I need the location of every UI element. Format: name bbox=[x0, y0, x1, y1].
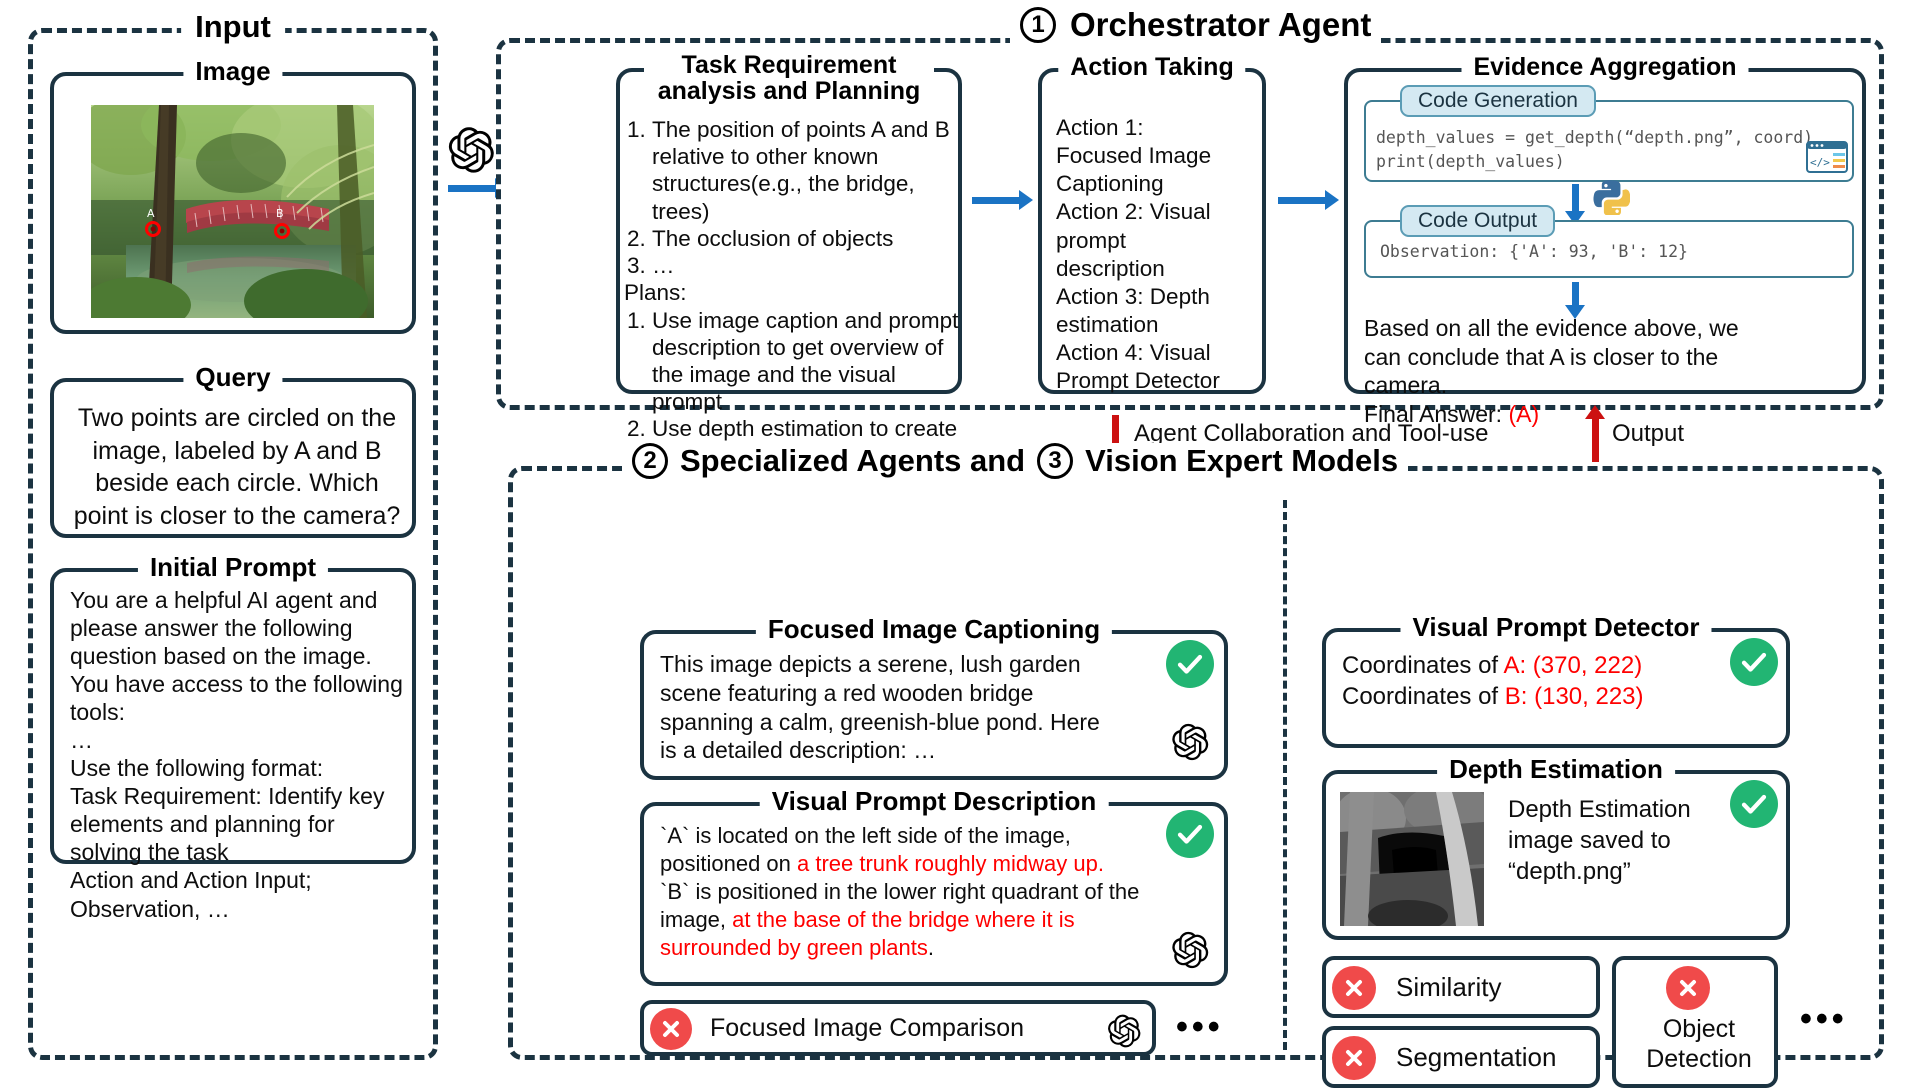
detector-row-prefix: Coordinates of bbox=[1342, 652, 1503, 679]
figure-root: Input Image bbox=[0, 0, 1913, 1090]
detector-row-value: A: (370, 222) bbox=[1503, 652, 1642, 679]
query-panel-title: Query bbox=[183, 364, 282, 391]
conclusion-line: can conclude that A is closer to the bbox=[1364, 343, 1858, 372]
similarity-status-bad-icon bbox=[1332, 966, 1376, 1010]
visual-prompt-detector-title: Visual Prompt Detector bbox=[1400, 614, 1711, 641]
depth-estimation-title: Depth Estimation bbox=[1437, 756, 1675, 783]
code-generation-label: Code Generation bbox=[1400, 85, 1596, 117]
input-photo-svg: A B bbox=[91, 105, 374, 318]
visual-prompt-description-status-ok-icon bbox=[1166, 810, 1214, 858]
query-text: Two points are circled on the image, lab… bbox=[68, 402, 406, 532]
check-icon bbox=[1175, 649, 1205, 679]
depth-line: image saved to bbox=[1508, 825, 1738, 856]
right-more-ellipsis: ••• bbox=[1800, 1000, 1848, 1039]
planning-panel: Task Requirement analysis and Planning T… bbox=[616, 68, 962, 394]
initial-prompt-line: You have access to the following bbox=[70, 670, 416, 698]
cross-icon bbox=[1342, 1046, 1366, 1070]
code-output-text: Observation: {'A': 93, 'B': 12} bbox=[1380, 240, 1688, 264]
object-detection-label: Object Detection bbox=[1616, 1014, 1782, 1074]
planning-requirement-item: … bbox=[652, 252, 962, 279]
action-line: prompt bbox=[1056, 227, 1270, 255]
visual-prompt-description-text: `A` is located on the left side of the i… bbox=[660, 822, 1196, 962]
evidence-panel: Evidence Aggregation Code Generation dep… bbox=[1344, 68, 1866, 394]
openai-icon bbox=[446, 124, 496, 176]
conclusion-line: camera. bbox=[1364, 371, 1858, 400]
focused-image-captioning-text: This image depicts a serene, lush garden… bbox=[660, 650, 1112, 765]
arrow-code-to-output bbox=[1572, 184, 1579, 212]
visual-prompt-description-panel: Visual Prompt Description `A` is located… bbox=[640, 802, 1228, 986]
arrow-action-to-evidence bbox=[1278, 197, 1326, 204]
initial-prompt-line: question based on the image. bbox=[70, 642, 416, 670]
openai-logo-fic bbox=[1170, 721, 1210, 768]
initial-prompt-panel: Initial Prompt You are a helpful AI agen… bbox=[50, 568, 416, 864]
orchestrator-header: 1 Orchestrator Agent bbox=[1010, 6, 1381, 44]
vpd-highlight-text: a tree trunk roughly midway up. bbox=[797, 851, 1104, 876]
initial-prompt-line: please answer the following bbox=[70, 614, 416, 642]
initial-prompt-line: Task Requirement: Identify key bbox=[70, 782, 416, 810]
initial-prompt-line: Use the following format: bbox=[70, 754, 416, 782]
code-generation-text: depth_values = get_depth(“depth.png”, co… bbox=[1376, 126, 1813, 174]
vpd-text-run: `B` is positioned in the lower right qua… bbox=[660, 879, 1139, 904]
depth-estimation-status-ok-icon bbox=[1730, 780, 1778, 828]
action-line: Action 4: Visual bbox=[1056, 339, 1270, 367]
initial-prompt-line: … bbox=[70, 726, 416, 754]
caption-line: scene featuring a red wooden bridge bbox=[660, 679, 1112, 708]
object-detection-label-line2: Detection bbox=[1646, 1045, 1752, 1073]
openai-logo-input bbox=[446, 124, 496, 181]
detector-row-prefix: Coordinates of bbox=[1342, 683, 1505, 710]
arrow-output-to-conclusion bbox=[1572, 282, 1579, 306]
visual-prompt-detector-status-ok-icon bbox=[1730, 638, 1778, 686]
check-icon bbox=[1739, 789, 1769, 819]
planning-plan-item: Use image caption and prompt description… bbox=[652, 307, 962, 416]
initial-prompt-text: You are a helpful AI agent andplease ans… bbox=[70, 586, 416, 923]
svg-text:B: B bbox=[276, 207, 284, 220]
vpd-text-run: image, bbox=[660, 907, 732, 932]
depth-map-svg bbox=[1340, 792, 1484, 926]
bottom-header: 2 Specialized Agents and 3 Vision Expert… bbox=[622, 443, 1408, 479]
planning-requirement-item: The occlusion of objects bbox=[652, 225, 962, 252]
code-output-box: Code Output Observation: {'A': 93, 'B': … bbox=[1364, 220, 1854, 278]
similarity-panel[interactable]: Similarity bbox=[1322, 956, 1600, 1018]
depth-estimation-text: Depth Estimationimage saved to“depth.png… bbox=[1508, 794, 1738, 888]
planning-title-line1: Task Requirement bbox=[682, 51, 897, 79]
code-output-label: Code Output bbox=[1400, 205, 1555, 237]
openai-icon bbox=[1170, 929, 1210, 971]
evidence-conclusion: Based on all the evidence above, wecan c… bbox=[1364, 314, 1858, 428]
depth-line: Depth Estimation bbox=[1508, 794, 1738, 825]
left-more-ellipsis: ••• bbox=[1176, 1008, 1224, 1047]
code-window-icon-svg: </> bbox=[1806, 141, 1848, 173]
focused-image-captioning-title: Focused Image Captioning bbox=[756, 616, 1112, 643]
svg-text:</>: </> bbox=[1810, 156, 1830, 169]
focused-image-comparison-label: Focused Image Comparison bbox=[710, 1014, 1024, 1043]
cross-icon bbox=[1342, 976, 1366, 1000]
segmentation-panel[interactable]: Segmentation bbox=[1322, 1026, 1600, 1088]
python-icon-svg bbox=[1592, 177, 1630, 215]
visual-prompt-detector-rows: Coordinates of A: (370, 222)Coordinates … bbox=[1342, 650, 1732, 712]
similarity-label: Similarity bbox=[1396, 972, 1501, 1003]
arrow-planning-to-action bbox=[972, 197, 1020, 204]
cross-icon bbox=[1676, 976, 1700, 1000]
action-line: description bbox=[1056, 255, 1270, 283]
planning-title-line2: analysis and Planning bbox=[658, 77, 921, 105]
caption-line: is a detailed description: … bbox=[660, 736, 1112, 765]
initial-prompt-line: elements and planning for bbox=[70, 810, 416, 838]
cross-icon bbox=[659, 1017, 683, 1041]
detector-row-value: B: (130, 223) bbox=[1505, 683, 1644, 710]
input-photo: A B bbox=[91, 105, 374, 318]
specialized-title: Specialized Agents and bbox=[680, 443, 1025, 479]
caption-line: spanning a calm, greenish-blue pond. Her… bbox=[660, 708, 1112, 737]
object-detection-label-line1: Object bbox=[1663, 1015, 1735, 1043]
initial-prompt-line: tools: bbox=[70, 698, 416, 726]
conclusion-line: Based on all the evidence above, we bbox=[1364, 314, 1858, 343]
initial-prompt-line: You are a helpful AI agent and bbox=[70, 586, 416, 614]
action-taking-panel-title: Action Taking bbox=[1058, 54, 1245, 80]
openai-logo-fimc bbox=[1106, 1012, 1142, 1055]
query-panel: Query Two points are circled on the imag… bbox=[50, 378, 416, 538]
focused-image-comparison-panel[interactable]: Focused Image Comparison bbox=[640, 1000, 1156, 1056]
openai-icon bbox=[1106, 1012, 1142, 1050]
code-generation-box: Code Generation depth_values = get_depth… bbox=[1364, 100, 1854, 182]
vpd-text-run: . bbox=[928, 935, 934, 960]
planning-requirement-item: The position of points A and B relative … bbox=[652, 116, 962, 225]
final-answer-value: (A) bbox=[1508, 401, 1539, 427]
vision-title: Vision Expert Models bbox=[1085, 443, 1398, 479]
output-label: Output bbox=[1612, 420, 1684, 448]
orchestrator-step-number: 1 bbox=[1020, 7, 1056, 43]
detector-row: Coordinates of B: (130, 223) bbox=[1342, 681, 1732, 712]
orchestrator-title: Orchestrator Agent bbox=[1070, 6, 1371, 44]
action-line: Focused Image bbox=[1056, 142, 1270, 170]
action-taking-content: Action 1:Focused ImageCaptioningAction 2… bbox=[1056, 114, 1270, 395]
action-line: Action 1: bbox=[1056, 114, 1270, 142]
action-line: Prompt Detector bbox=[1056, 367, 1270, 395]
initial-prompt-line: Action and Action Input; bbox=[70, 866, 416, 894]
input-image-panel-title: Image bbox=[183, 58, 282, 85]
initial-prompt-line: solving the task bbox=[70, 838, 416, 866]
planning-panel-title: Task Requirement analysis and Planning bbox=[644, 52, 934, 105]
vpd-highlight-text: surrounded by green plants bbox=[660, 935, 928, 960]
openai-icon bbox=[1170, 721, 1210, 763]
vpd-text-run: `A` is located on the left side of the i… bbox=[660, 823, 1071, 848]
object-detection-status-bad-icon bbox=[1666, 966, 1710, 1010]
initial-prompt-line: Observation, … bbox=[70, 895, 416, 923]
focused-image-captioning-status-ok-icon bbox=[1166, 640, 1214, 688]
vpd-text-run: positioned on bbox=[660, 851, 797, 876]
bottom-divider bbox=[1283, 500, 1287, 1050]
visual-prompt-detector-panel: Visual Prompt Detector Coordinates of A:… bbox=[1322, 628, 1790, 748]
evidence-panel-title: Evidence Aggregation bbox=[1461, 54, 1748, 80]
action-line: Action 2: Visual bbox=[1056, 198, 1270, 226]
planning-content: The position of points A and B relative … bbox=[624, 116, 962, 497]
caption-line: This image depicts a serene, lush garden bbox=[660, 650, 1112, 679]
action-line: estimation bbox=[1056, 311, 1270, 339]
python-icon bbox=[1592, 177, 1630, 220]
planning-requirements-list: The position of points A and B relative … bbox=[624, 116, 962, 279]
segmentation-status-bad-icon bbox=[1332, 1036, 1376, 1080]
segmentation-label: Segmentation bbox=[1396, 1042, 1556, 1073]
check-icon bbox=[1175, 819, 1205, 849]
action-taking-panel: Action Taking Action 1:Focused ImageCapt… bbox=[1038, 68, 1266, 394]
focused-image-captioning-panel: Focused Image Captioning This image depi… bbox=[640, 630, 1228, 780]
svg-text:A: A bbox=[147, 207, 155, 220]
depth-map-thumbnail bbox=[1340, 792, 1484, 926]
openai-logo-vpd bbox=[1170, 929, 1210, 976]
arrow-input-to-orchestrator bbox=[448, 185, 496, 192]
visual-prompt-description-title: Visual Prompt Description bbox=[760, 788, 1109, 815]
focused-image-comparison-status-bad-icon bbox=[650, 1008, 692, 1050]
check-icon bbox=[1739, 647, 1769, 677]
vpd-highlight-text: at the base of the bridge where it is bbox=[732, 907, 1074, 932]
input-section-title: Input bbox=[181, 11, 285, 44]
initial-prompt-panel-title: Initial Prompt bbox=[138, 554, 328, 581]
action-line: Action 3: Depth bbox=[1056, 283, 1270, 311]
specialized-step-number: 2 bbox=[632, 443, 668, 479]
code-window-icon: </> bbox=[1806, 141, 1848, 178]
planning-plans-label: Plans: bbox=[624, 279, 962, 306]
vision-step-number: 3 bbox=[1037, 443, 1073, 479]
depth-line: “depth.png” bbox=[1508, 856, 1738, 887]
depth-estimation-panel: Depth Estimation Depth Estimationimage s… bbox=[1322, 770, 1790, 940]
action-line: Captioning bbox=[1056, 170, 1270, 198]
object-detection-panel[interactable]: Object Detection bbox=[1612, 956, 1778, 1088]
detector-row: Coordinates of A: (370, 222) bbox=[1342, 650, 1732, 681]
arrow-output-up bbox=[1592, 418, 1599, 462]
